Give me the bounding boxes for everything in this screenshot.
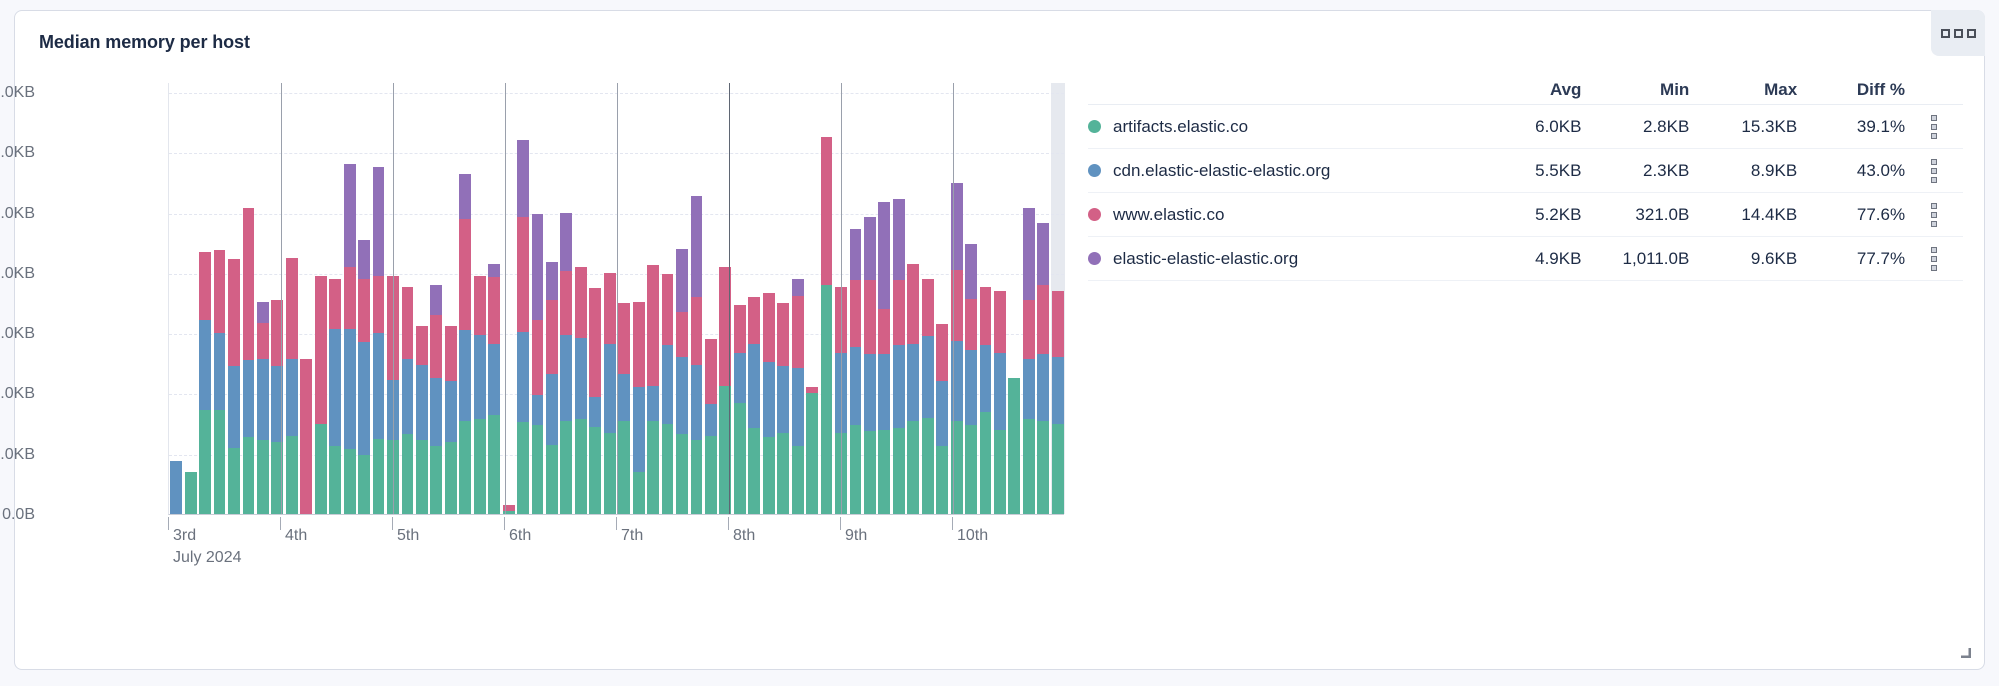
chart-bar-segment bbox=[430, 285, 442, 315]
grid-square-icon bbox=[1967, 29, 1976, 38]
chart-bar-segment bbox=[850, 347, 862, 425]
chart-bar[interactable] bbox=[402, 287, 414, 515]
chart-bar-segment bbox=[358, 240, 370, 279]
chart-bar-segment bbox=[748, 297, 760, 344]
chart-bar[interactable] bbox=[170, 461, 182, 514]
legend-cell-min: 2.8KB bbox=[1581, 117, 1689, 137]
chart-bar-segment bbox=[329, 446, 341, 514]
chart-bar-segment bbox=[589, 288, 601, 396]
chart-bar-segment bbox=[647, 265, 659, 386]
chart-bar-segment bbox=[850, 425, 862, 514]
chart-bar-segment bbox=[994, 353, 1006, 430]
chart-bar[interactable] bbox=[878, 202, 890, 514]
chart-bar[interactable] bbox=[705, 339, 717, 514]
chart-bar[interactable] bbox=[994, 291, 1006, 514]
chart-bar-segment bbox=[705, 404, 717, 436]
chart-bar[interactable] bbox=[763, 293, 775, 514]
chart-bar-segment bbox=[633, 302, 645, 388]
chart-bar-segment bbox=[402, 434, 414, 514]
chart-bar-segment bbox=[546, 374, 558, 445]
panel-context-menu-button[interactable] bbox=[1931, 10, 1985, 56]
y-axis-tick-label: 0.0B bbox=[0, 506, 35, 524]
chart-bar-segment bbox=[1023, 208, 1035, 300]
chart-bar-segment bbox=[777, 433, 789, 514]
chart-bar-segment bbox=[474, 276, 486, 335]
chart-bar-segment bbox=[850, 229, 862, 280]
chart-bar-segment bbox=[965, 425, 977, 514]
chart-bar-segment bbox=[532, 425, 544, 514]
chart-bar-segment bbox=[792, 279, 804, 296]
day-separator bbox=[393, 83, 394, 514]
x-axis-tick bbox=[280, 517, 281, 530]
chart-bar-segment bbox=[734, 403, 746, 514]
chart-bar-segment bbox=[691, 440, 703, 514]
chart-bar-segment bbox=[980, 412, 992, 514]
chart-bar-segment bbox=[402, 359, 414, 434]
chart-bar-segment bbox=[821, 285, 833, 514]
chart-bar-segment bbox=[618, 421, 630, 514]
chart-bar-segment bbox=[517, 422, 529, 514]
chart-bar-segment bbox=[257, 302, 269, 323]
legend-row-actions[interactable] bbox=[1905, 247, 1963, 271]
chart-bar-segment bbox=[893, 280, 905, 345]
chart-bar-segment bbox=[647, 386, 659, 421]
chart-bar-segment bbox=[893, 345, 905, 428]
series-color-dot-icon bbox=[1088, 252, 1101, 265]
legend-cell-diff: 43.0% bbox=[1797, 161, 1905, 181]
chart-bar-segment bbox=[416, 365, 428, 440]
chart-bar-segment bbox=[633, 472, 645, 514]
y-axis-tick-label: 28.0KB bbox=[0, 84, 35, 102]
drag-grip-icon[interactable] bbox=[1931, 247, 1937, 271]
chart-bar-segment bbox=[358, 342, 370, 455]
chart-bar-segment bbox=[1052, 357, 1064, 423]
chart-bar-segment bbox=[214, 250, 226, 333]
chart-bar[interactable] bbox=[373, 167, 385, 514]
chart-bar-segment bbox=[763, 362, 775, 437]
chart-bar-segment bbox=[315, 276, 327, 424]
chart-bar-segment bbox=[575, 267, 587, 338]
chart-bar[interactable] bbox=[488, 264, 500, 514]
chart-bar[interactable] bbox=[777, 303, 789, 514]
chart-bar[interactable] bbox=[936, 324, 948, 514]
chart-bar-segment bbox=[1023, 300, 1035, 359]
legend-cell-diff: 77.6% bbox=[1797, 205, 1905, 225]
legend-row[interactable]: elastic-elastic-elastic.org4.9KB1,011.0B… bbox=[1088, 237, 1963, 281]
chart-bar-segment bbox=[878, 309, 890, 354]
chart-bar[interactable] bbox=[691, 196, 703, 514]
chart-bar[interactable] bbox=[517, 140, 529, 514]
legend-row-actions[interactable] bbox=[1905, 203, 1963, 227]
chart-bar-segment bbox=[662, 274, 674, 345]
chart-bar-segment bbox=[445, 326, 457, 382]
resize-corner-icon[interactable] bbox=[1957, 645, 1973, 661]
chart-bar-segment bbox=[864, 280, 876, 354]
chart-bar-segment bbox=[488, 264, 500, 278]
chart-bar[interactable] bbox=[1037, 223, 1049, 514]
x-axis-tick-label: 3rd bbox=[173, 527, 196, 545]
chart-bar-segment bbox=[864, 217, 876, 280]
drag-grip-icon[interactable] bbox=[1931, 115, 1937, 139]
chart-bar[interactable] bbox=[257, 302, 269, 514]
chart-bar-segment bbox=[286, 258, 298, 359]
chart-bar-segment bbox=[980, 345, 992, 411]
chart-bar[interactable] bbox=[980, 287, 992, 515]
chart-bar[interactable] bbox=[676, 249, 688, 514]
day-separator bbox=[617, 83, 618, 514]
chart-bar[interactable] bbox=[792, 279, 804, 514]
chart-bar-segment bbox=[402, 287, 414, 359]
chart-bar[interactable] bbox=[965, 244, 977, 514]
chart-bar[interactable] bbox=[893, 199, 905, 514]
chart-bar-segment bbox=[416, 326, 428, 365]
legend-body: artifacts.elastic.co6.0KB2.8KB15.3KB39.1… bbox=[1088, 105, 1963, 281]
y-axis-tick-label: 20.0KB bbox=[0, 205, 35, 223]
day-separator bbox=[953, 83, 954, 514]
chart-bar-segment bbox=[864, 431, 876, 514]
chart-bar-segment bbox=[907, 344, 919, 421]
x-axis-tick-label: 7th bbox=[621, 527, 643, 545]
chart-bar-segment bbox=[488, 344, 500, 415]
chart-bar-segment bbox=[560, 335, 572, 421]
day-separator bbox=[729, 83, 730, 514]
chart-bar-segment bbox=[604, 433, 616, 514]
chart-plot-area[interactable] bbox=[168, 83, 1064, 515]
chart-bar[interactable] bbox=[560, 213, 572, 514]
chart-bar-segment bbox=[488, 277, 500, 343]
legend-row[interactable]: www.elastic.co5.2KB321.0B14.4KB77.6% bbox=[1088, 193, 1963, 237]
series-color-dot-icon bbox=[1088, 120, 1101, 133]
legend-cell-max: 15.3KB bbox=[1689, 117, 1797, 137]
chart-bar-segment bbox=[618, 303, 630, 374]
chart-bar-segment bbox=[763, 293, 775, 362]
chart-bar-segment bbox=[199, 252, 211, 320]
chart-bar-segment bbox=[691, 365, 703, 440]
chart-bar-segment bbox=[792, 446, 804, 514]
legend-row-actions[interactable] bbox=[1905, 115, 1963, 139]
chart-bar-segment bbox=[792, 368, 804, 446]
legend-cell-max: 14.4KB bbox=[1689, 205, 1797, 225]
chart-bar-segment bbox=[228, 366, 240, 447]
chart-bar-segment bbox=[532, 395, 544, 425]
chart-bar-segment bbox=[474, 419, 486, 514]
chart-bar-segment bbox=[1037, 285, 1049, 354]
chart-bar-segment bbox=[517, 140, 529, 217]
drag-grip-icon[interactable] bbox=[1931, 159, 1937, 183]
y-axis-tick-label: 4.0KB bbox=[0, 446, 35, 464]
legend-series-label: www.elastic.co bbox=[1113, 205, 1224, 225]
chart-bar-segment bbox=[517, 332, 529, 422]
chart-bar-segment bbox=[243, 208, 255, 360]
chart-bar[interactable] bbox=[604, 273, 616, 514]
chart-bar-segment bbox=[676, 249, 688, 312]
chart-bar-segment bbox=[691, 196, 703, 297]
chart-bar-segment bbox=[777, 366, 789, 432]
chart-bar[interactable] bbox=[922, 279, 934, 514]
chart-bar-segment bbox=[936, 381, 948, 446]
chart-bar-segment bbox=[445, 442, 457, 514]
chart-bar-segment bbox=[344, 164, 356, 266]
x-axis-tick bbox=[616, 517, 617, 530]
chart-bar-segment bbox=[907, 264, 919, 344]
legend-row[interactable]: artifacts.elastic.co6.0KB2.8KB15.3KB39.1… bbox=[1088, 105, 1963, 149]
legend-cell-max: 8.9KB bbox=[1689, 161, 1797, 181]
legend-header-min[interactable]: Min bbox=[1581, 80, 1689, 100]
chart-bar[interactable] bbox=[907, 264, 919, 514]
chart-bar-segment bbox=[734, 305, 746, 353]
chart-bar-segment bbox=[748, 344, 760, 428]
chart-bar-segment bbox=[459, 219, 471, 330]
legend-cell-diff: 39.1% bbox=[1797, 117, 1905, 137]
chart-bar[interactable] bbox=[864, 217, 876, 514]
legend-series-name-cell[interactable]: elastic-elastic-elastic.org bbox=[1088, 249, 1474, 269]
chart-bar-segment bbox=[936, 324, 948, 381]
chart-bar[interactable] bbox=[618, 303, 630, 514]
chart-bar-segment bbox=[864, 354, 876, 431]
chart-bar-segment bbox=[676, 312, 688, 357]
chart-bar[interactable] bbox=[286, 258, 298, 514]
chart-bar-segment bbox=[344, 329, 356, 450]
chart-bar-segment bbox=[517, 217, 529, 332]
chart-bar-segment bbox=[532, 214, 544, 319]
legend-row[interactable]: cdn.elastic-elastic-elastic.org5.5KB2.3K… bbox=[1088, 149, 1963, 193]
chart-bar-segment bbox=[560, 213, 572, 272]
legend-series-label: elastic-elastic-elastic.org bbox=[1113, 249, 1298, 269]
chart-bar[interactable] bbox=[459, 174, 471, 515]
legend-series-label: cdn.elastic-elastic-elastic.org bbox=[1113, 161, 1330, 181]
chart-bar[interactable] bbox=[589, 288, 601, 514]
chart-bar-segment bbox=[228, 448, 240, 514]
chart-bar-segment bbox=[185, 472, 197, 514]
chart-bar-segment bbox=[243, 360, 255, 437]
chart-bar-segment bbox=[980, 287, 992, 346]
chart-bar-segment bbox=[373, 439, 385, 514]
drag-grip-icon[interactable] bbox=[1931, 203, 1937, 227]
chart-bar-segment bbox=[243, 437, 255, 514]
chart-bar[interactable] bbox=[214, 250, 226, 514]
legend-cell-min: 2.3KB bbox=[1581, 161, 1689, 181]
chart-bar-segment bbox=[777, 303, 789, 366]
chart-bar[interactable] bbox=[228, 259, 240, 514]
chart-bar[interactable] bbox=[546, 262, 558, 514]
chart-bar-segment bbox=[878, 354, 890, 429]
chart-bar[interactable] bbox=[416, 326, 428, 514]
x-axis-tick bbox=[168, 517, 169, 530]
chart-bar-segment bbox=[1023, 359, 1035, 419]
chart-bar-segment bbox=[604, 273, 616, 344]
chart-bar-segment bbox=[474, 335, 486, 419]
chart-bar-segment bbox=[373, 167, 385, 275]
chart-bar-segment bbox=[763, 437, 775, 514]
legend-series-name-cell[interactable]: artifacts.elastic.co bbox=[1088, 117, 1474, 137]
legend-series-label: artifacts.elastic.co bbox=[1113, 117, 1248, 137]
chart-bar-segment bbox=[589, 397, 601, 427]
chart-bar-segment bbox=[922, 336, 934, 417]
chart-bar-segment bbox=[459, 174, 471, 219]
legend-cell-avg: 4.9KB bbox=[1474, 249, 1582, 269]
chart-bar[interactable] bbox=[315, 276, 327, 514]
chart-bar-segment bbox=[358, 279, 370, 342]
chart-bar-segment bbox=[893, 428, 905, 514]
legend-cell-avg: 5.2KB bbox=[1474, 205, 1582, 225]
chart-bar[interactable] bbox=[199, 252, 211, 514]
chart-bar[interactable] bbox=[575, 267, 587, 514]
chart-bar-segment bbox=[1037, 354, 1049, 420]
dashboard-panel: Median memory per host July 2024 3rd4th5… bbox=[14, 10, 1985, 670]
chart-bar-segment bbox=[893, 199, 905, 280]
chart-bar-segment bbox=[1052, 291, 1064, 357]
chart-bar[interactable] bbox=[1008, 378, 1020, 514]
chart-bar[interactable] bbox=[358, 240, 370, 514]
chart-bar-segment bbox=[546, 300, 558, 374]
chart-bar[interactable] bbox=[430, 285, 442, 514]
legend-header-max[interactable]: Max bbox=[1689, 80, 1797, 100]
day-separator bbox=[505, 83, 506, 514]
x-axis-tick bbox=[504, 517, 505, 530]
chart-bar-segment bbox=[705, 339, 717, 404]
x-axis-tick bbox=[728, 517, 729, 530]
x-axis-tick-label: 5th bbox=[397, 527, 419, 545]
chart-bar-segment bbox=[560, 271, 572, 334]
legend-series-name-cell[interactable]: www.elastic.co bbox=[1088, 205, 1474, 225]
chart-bar-segment bbox=[344, 449, 356, 514]
legend-cell-diff: 77.7% bbox=[1797, 249, 1905, 269]
chart-bar-segment bbox=[965, 350, 977, 425]
chart-bar-segment bbox=[199, 320, 211, 410]
chart-bar-segment bbox=[430, 315, 442, 378]
chart-bar-segment bbox=[734, 353, 746, 403]
chart-bar[interactable] bbox=[806, 387, 818, 514]
grid-square-icon bbox=[1941, 29, 1950, 38]
chart-bar-segment bbox=[358, 455, 370, 514]
chart-bar-segment bbox=[560, 421, 572, 514]
chart-bar-segment bbox=[300, 359, 312, 514]
y-axis-tick-label: 12.0KB bbox=[0, 325, 35, 343]
chart-bar[interactable] bbox=[633, 302, 645, 514]
legend-header-diff[interactable]: Diff % bbox=[1797, 80, 1905, 100]
x-axis-tick bbox=[952, 517, 953, 530]
chart-bar[interactable] bbox=[243, 208, 255, 514]
chart-bar[interactable] bbox=[821, 137, 833, 514]
chart-bar-segment bbox=[850, 280, 862, 346]
legend-header-avg[interactable]: Avg bbox=[1474, 80, 1582, 100]
chart-bar-segment bbox=[459, 421, 471, 514]
chart-bar-segment bbox=[705, 436, 717, 514]
chart-bar[interactable] bbox=[850, 229, 862, 514]
chart-bar-segment bbox=[286, 436, 298, 514]
chart-bar-segment bbox=[1037, 223, 1049, 285]
chart-bar[interactable] bbox=[445, 326, 457, 514]
chart-bar-segment bbox=[344, 267, 356, 329]
chart-bar-segment bbox=[329, 279, 341, 329]
chart-bar-segment bbox=[257, 359, 269, 440]
chart-bar-segment bbox=[633, 387, 645, 471]
chart-bar-segment bbox=[228, 259, 240, 366]
chart-bar[interactable] bbox=[662, 274, 674, 514]
chart-bar[interactable] bbox=[474, 276, 486, 514]
chart-bar[interactable] bbox=[647, 265, 659, 514]
chart-bar[interactable] bbox=[1052, 291, 1064, 514]
x-axis-tick-label: 4th bbox=[285, 527, 307, 545]
x-axis-tick bbox=[392, 517, 393, 530]
chart-bar-segment bbox=[1037, 421, 1049, 514]
day-separator bbox=[281, 83, 282, 514]
chart-bar-segment bbox=[329, 329, 341, 447]
legend-series-name-cell[interactable]: cdn.elastic-elastic-elastic.org bbox=[1088, 161, 1474, 181]
chart-bar-segment bbox=[373, 333, 385, 438]
chart-bar-segment bbox=[257, 440, 269, 514]
chart-bar-segment bbox=[532, 320, 544, 395]
grid-square-icon bbox=[1954, 29, 1963, 38]
chart-bar-segment bbox=[994, 430, 1006, 514]
series-color-dot-icon bbox=[1088, 164, 1101, 177]
x-axis-tick-label: 8th bbox=[733, 527, 755, 545]
chart-bar-segment bbox=[257, 323, 269, 359]
chart-bar-segment bbox=[214, 333, 226, 410]
chart-bar-segment bbox=[965, 299, 977, 350]
chart-bar-segment bbox=[1008, 378, 1020, 514]
legend-cell-avg: 5.5KB bbox=[1474, 161, 1582, 181]
x-axis-tick-label: 10th bbox=[957, 527, 988, 545]
chart-bar[interactable] bbox=[1023, 208, 1035, 514]
chart-bar-segment bbox=[459, 330, 471, 420]
y-axis-tick-label: 24.0KB bbox=[0, 144, 35, 162]
chart-bar-segment bbox=[806, 393, 818, 514]
x-axis: July 2024 3rd4th5th6th7th8th9th10th bbox=[168, 517, 1064, 567]
chart-bar-segment bbox=[676, 357, 688, 434]
chart-bar[interactable] bbox=[532, 214, 544, 514]
chart-bar[interactable] bbox=[344, 164, 356, 514]
chart-bar-segment bbox=[589, 427, 601, 514]
chart-bar-segment bbox=[878, 430, 890, 514]
chart-bar-segment bbox=[286, 359, 298, 436]
chart-bar-segment bbox=[315, 424, 327, 514]
chart-bar-segment bbox=[922, 418, 934, 514]
chart-bar-segment bbox=[618, 374, 630, 421]
chart-bar[interactable] bbox=[329, 279, 341, 514]
legend-cell-min: 1,011.0B bbox=[1581, 249, 1689, 269]
chart-bar-segment bbox=[199, 410, 211, 514]
chart-bar[interactable] bbox=[748, 297, 760, 514]
legend-row-actions[interactable] bbox=[1905, 159, 1963, 183]
day-separator bbox=[841, 83, 842, 514]
chart-bar-segment bbox=[604, 344, 616, 433]
series-color-dot-icon bbox=[1088, 208, 1101, 221]
chart-bar-segment bbox=[965, 244, 977, 298]
chart-bar-segment bbox=[546, 445, 558, 514]
chart-bar-segment bbox=[1052, 424, 1064, 514]
chart-bar-segment bbox=[821, 137, 833, 285]
chart-bar-segment bbox=[170, 461, 182, 514]
chart-bar[interactable] bbox=[734, 305, 746, 514]
chart-bar-segment bbox=[445, 381, 457, 441]
chart-bar[interactable] bbox=[300, 359, 312, 514]
chart-bar-segment bbox=[1023, 419, 1035, 514]
chart-bar-segment bbox=[647, 421, 659, 514]
chart-bar-segment bbox=[662, 345, 674, 423]
chart-bar-segment bbox=[575, 338, 587, 419]
x-axis-tick bbox=[840, 517, 841, 530]
chart-bar[interactable] bbox=[185, 472, 197, 514]
chart-bar-segment bbox=[575, 419, 587, 514]
y-axis-tick-label: 8.0KB bbox=[0, 385, 35, 403]
series-legend-table: Avg Min Max Diff % artifacts.elastic.co6… bbox=[1088, 71, 1963, 281]
legend-cell-avg: 6.0KB bbox=[1474, 117, 1582, 137]
y-axis-tick-label: 16.0KB bbox=[0, 265, 35, 283]
chart-bar-segment bbox=[416, 440, 428, 514]
legend-cell-max: 9.6KB bbox=[1689, 249, 1797, 269]
chart-bar-segment bbox=[748, 428, 760, 514]
